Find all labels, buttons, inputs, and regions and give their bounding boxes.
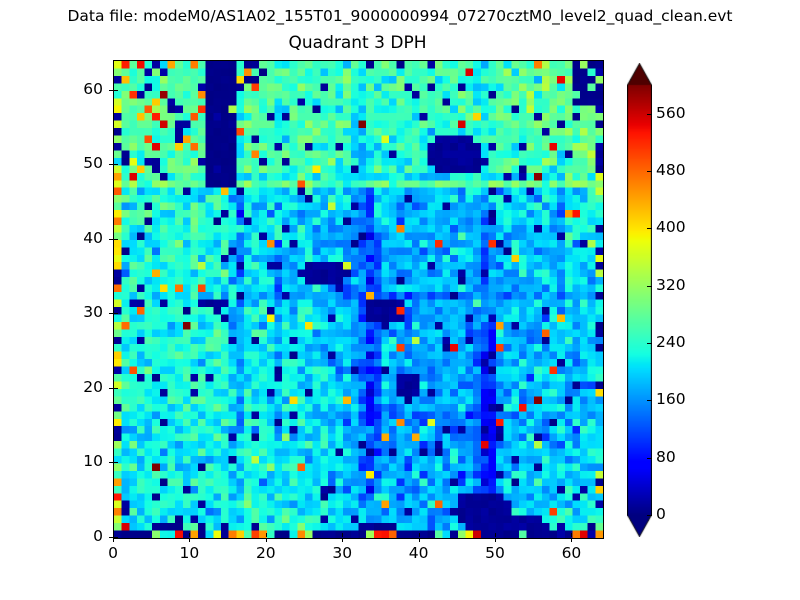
x-tick-label: 20 xyxy=(236,544,296,562)
y-tick-mark-inner xyxy=(114,90,118,91)
y-tick-label: 0 xyxy=(58,527,103,545)
y-tick-label: 20 xyxy=(58,378,103,396)
x-tick-mark-inner xyxy=(495,533,496,537)
heatmap-axes xyxy=(113,60,604,539)
y-tick-mark xyxy=(109,239,113,240)
x-tick-mark xyxy=(189,538,190,542)
y-tick-label: 60 xyxy=(58,80,103,98)
x-tick-label: 40 xyxy=(389,544,449,562)
y-tick-mark xyxy=(109,90,113,91)
colorbar xyxy=(627,63,652,537)
x-tick-mark-inner xyxy=(266,533,267,537)
x-tick-label: 30 xyxy=(312,544,372,562)
y-tick-label: 10 xyxy=(58,452,103,470)
colorbar-tick-mark xyxy=(647,171,652,172)
figure-suptitle: Data file: modeM0/AS1A02_155T01_90000009… xyxy=(0,7,800,25)
x-tick-mark xyxy=(571,538,572,542)
colorbar-tick-mark xyxy=(647,515,652,516)
colorbar-tick-mark xyxy=(647,343,652,344)
colorbar-tick-label: 160 xyxy=(656,390,686,408)
y-tick-mark xyxy=(109,462,113,463)
colorbar-tick-label: 0 xyxy=(656,505,666,523)
y-tick-mark-inner xyxy=(114,537,118,538)
y-tick-label: 30 xyxy=(58,303,103,321)
axes-title: Quadrant 3 DPH xyxy=(113,33,602,53)
colorbar-tick-mark xyxy=(647,114,652,115)
x-tick-label: 10 xyxy=(159,544,219,562)
y-tick-mark-inner xyxy=(114,388,118,389)
y-tick-mark xyxy=(109,313,113,314)
y-tick-label: 40 xyxy=(58,229,103,247)
colorbar-tick-label: 240 xyxy=(656,333,686,351)
x-tick-mark-inner xyxy=(419,533,420,537)
colorbar-tick-mark xyxy=(647,286,652,287)
colorbar-tick-label: 400 xyxy=(656,218,686,236)
x-tick-mark-inner xyxy=(571,533,572,537)
x-tick-mark-inner xyxy=(342,533,343,537)
colorbar-tick-label: 320 xyxy=(656,276,686,294)
x-tick-mark xyxy=(419,538,420,542)
colorbar-tick-label: 480 xyxy=(656,161,686,179)
colorbar-tick-mark xyxy=(647,458,652,459)
x-tick-label: 50 xyxy=(465,544,525,562)
colorbar-tick-mark xyxy=(647,228,652,229)
y-tick-label: 50 xyxy=(58,154,103,172)
y-tick-mark-inner xyxy=(114,239,118,240)
x-tick-mark xyxy=(113,538,114,542)
y-tick-mark xyxy=(109,388,113,389)
y-tick-mark xyxy=(109,537,113,538)
colorbar-gradient xyxy=(627,63,652,537)
y-tick-mark xyxy=(109,164,113,165)
x-tick-mark xyxy=(266,538,267,542)
matplotlib-figure: Data file: modeM0/AS1A02_155T01_90000009… xyxy=(0,0,800,600)
colorbar-tick-mark xyxy=(647,400,652,401)
x-tick-mark xyxy=(495,538,496,542)
colorbar-tick-label: 80 xyxy=(656,448,676,466)
x-tick-mark xyxy=(342,538,343,542)
x-tick-mark-inner xyxy=(189,533,190,537)
x-tick-label: 0 xyxy=(83,544,143,562)
x-tick-label: 60 xyxy=(541,544,601,562)
colorbar-tick-label: 560 xyxy=(656,104,686,122)
y-tick-mark-inner xyxy=(114,462,118,463)
heatmap-image xyxy=(114,61,603,538)
y-tick-mark-inner xyxy=(114,164,118,165)
y-tick-mark-inner xyxy=(114,313,118,314)
